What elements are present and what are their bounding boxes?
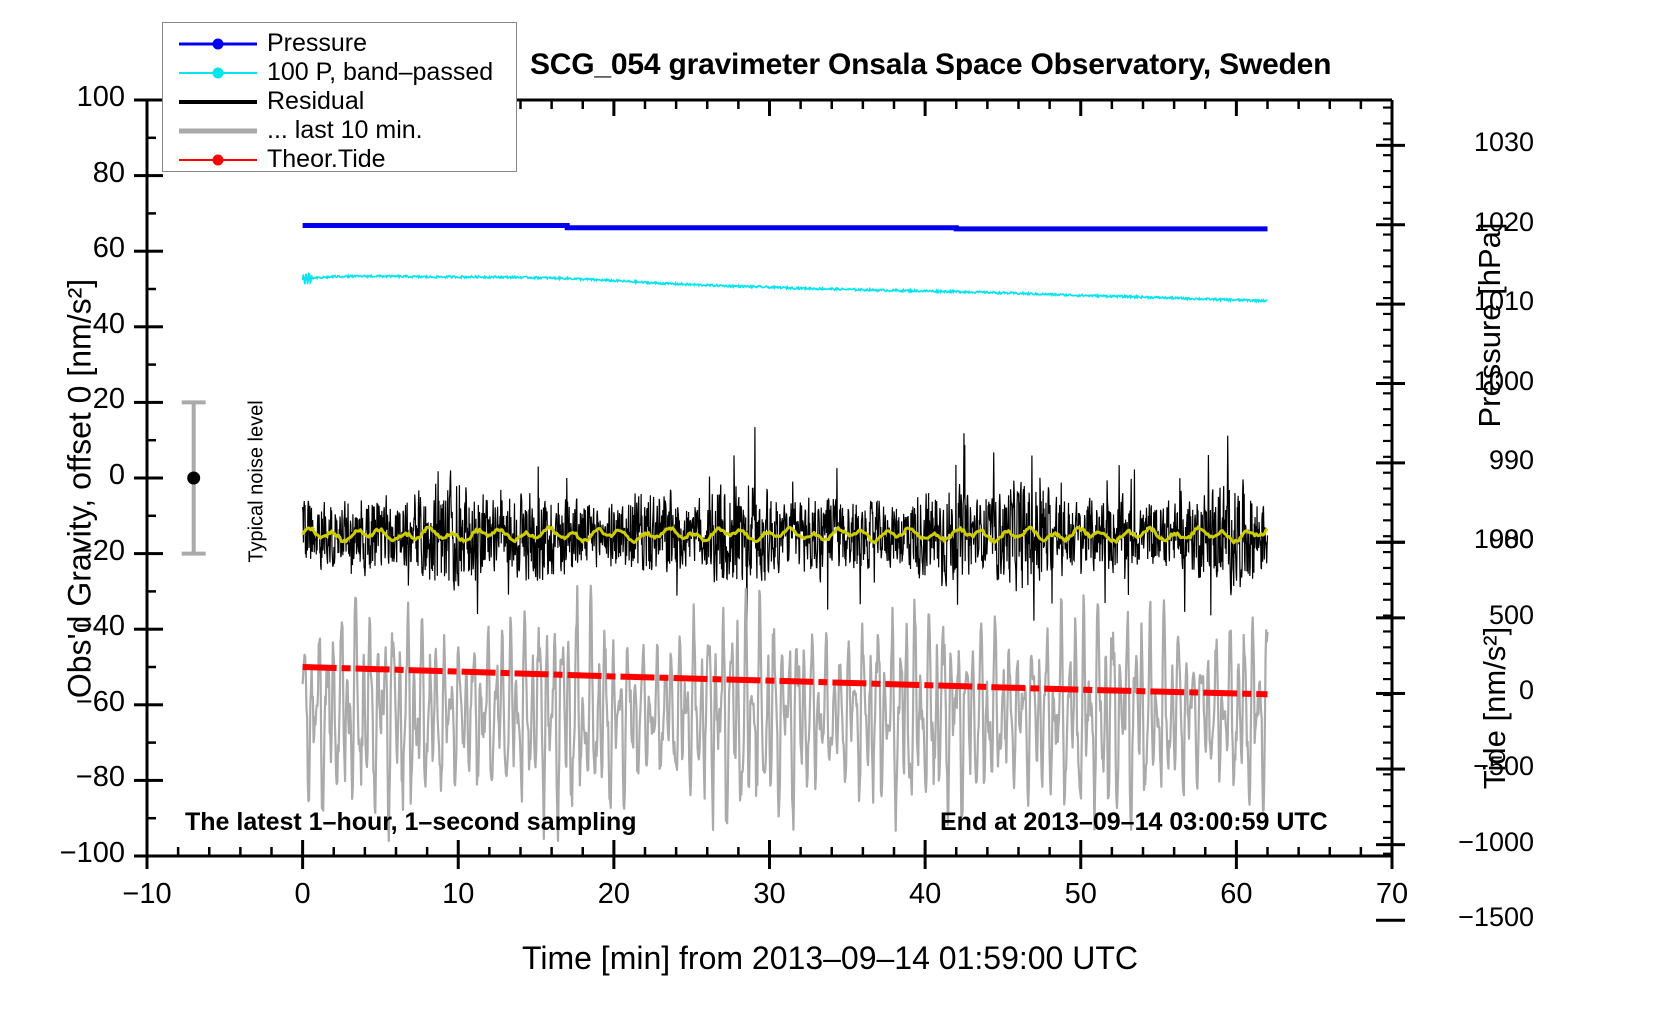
legend-dot-sample [213,38,224,49]
legend-dot-sample [213,154,224,165]
y-tick-label: −60 [5,686,125,719]
legend-label-theortide: Theor.Tide [267,145,386,174]
tide-tick-label: −1000 [1414,827,1534,858]
x-tick-label: 0 [253,878,353,911]
pressure-tick-label: 1000 [1414,366,1534,397]
y-tick-label: 100 [5,81,125,114]
x-tick-label: 20 [564,878,664,911]
y-tick-label: 20 [5,383,125,416]
y-tick-label: 80 [5,157,125,190]
series-pressure [303,226,1268,229]
legend-label-residual: Residual [267,87,364,116]
series-theoretical-tide [303,667,1268,694]
chart-title: SCG_054 gravimeter Onsala Space Observat… [530,48,1331,82]
legend-item-bandpassed[interactable]: 100 P, band–passed [163,58,516,87]
y-tick-label: 0 [5,459,125,492]
x-tick-label: 10 [408,878,508,911]
tide-tick-label: 1000 [1414,524,1534,555]
end-time-note: End at 2013–09–14 03:00:59 UTC [940,808,1328,837]
tide-tick-label: 0 [1414,675,1534,706]
legend-swatch-theortide [179,150,257,170]
y-tick-label: −40 [5,610,125,643]
pressure-tick-label: 1020 [1414,207,1534,238]
legend-swatch-residual [179,92,257,112]
sampling-note: The latest 1–hour, 1–second sampling [185,808,637,837]
legend-label-pressure: Pressure [267,29,367,58]
x-tick-label: −10 [97,878,197,911]
tide-tick-label: 500 [1414,600,1534,631]
pressure-tick-label: 1030 [1414,127,1534,158]
legend-label-last10: ... last 10 min. [267,116,423,145]
y-tick-label: 60 [5,232,125,265]
x-tick-label: 40 [875,878,975,911]
typical-noise-level-marker [182,402,206,553]
chart-page: SCG_054 gravimeter Onsala Space Observat… [0,0,1660,1020]
pressure-tick-label: 1010 [1414,286,1534,317]
x-tick-label: 70 [1342,878,1442,911]
x-tick-label: 60 [1186,878,1286,911]
y-tick-label: 40 [5,308,125,341]
pressure-tick-label: 990 [1414,445,1534,476]
legend-swatch-bandpassed [179,63,257,83]
tide-tick-label: −500 [1414,751,1534,782]
noise-level-label: Typical noise level [246,362,269,602]
legend-label-bandpassed: 100 P, band–passed [267,58,493,87]
series-bandpassed-pressure [303,274,1268,302]
x-axis-title: Time [min] from 2013–09–14 01:59:00 UTC [0,940,1660,977]
legend-swatch-last10 [179,121,257,141]
chart-legend: Pressure 100 P, band–passed Residual ...… [162,22,517,172]
series-last-10-min [303,586,1268,841]
y-tick-label: −100 [5,837,125,870]
legend-item-last10[interactable]: ... last 10 min. [163,116,516,145]
legend-line-sample [179,128,257,133]
y-tick-label: −20 [5,535,125,568]
legend-swatch-pressure [179,34,257,54]
legend-line-sample [179,100,257,104]
x-tick-label: 30 [720,878,820,911]
legend-item-pressure[interactable]: Pressure [163,29,516,58]
x-tick-label: 50 [1031,878,1131,911]
legend-item-residual[interactable]: Residual [163,87,516,116]
y-tick-label: −80 [5,761,125,794]
legend-dot-sample [213,67,224,78]
legend-item-theortide[interactable]: Theor.Tide [163,145,516,174]
